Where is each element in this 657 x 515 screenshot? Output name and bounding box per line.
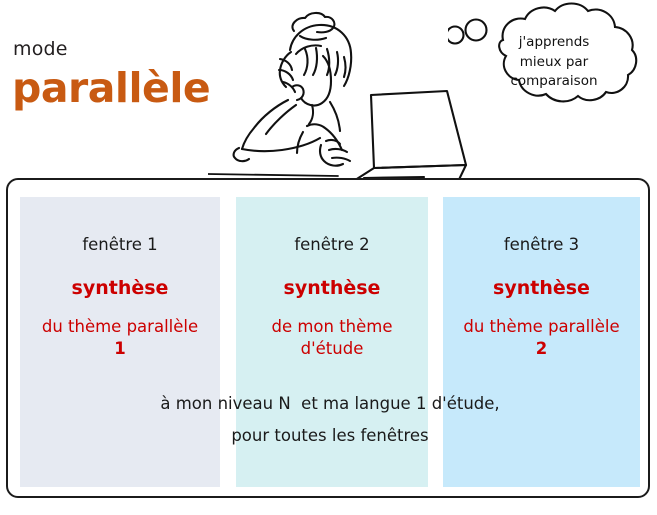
window-label-2: fenêtre 2 xyxy=(236,235,428,255)
synthese-heading-1: synthèse xyxy=(20,277,220,300)
header-zone: mode parallèle xyxy=(0,0,657,178)
synthese-heading-2: synthèse xyxy=(236,277,428,300)
theme-number-1: 1 xyxy=(114,339,125,358)
window-column-2-content: fenêtre 2 synthèse de mon thème d'étude xyxy=(236,197,428,361)
synthese-heading-3: synthèse xyxy=(443,277,640,300)
person-at-laptop-icon xyxy=(208,4,468,178)
window-label-1: fenêtre 1 xyxy=(20,235,220,255)
thought-bubble-line-1: j'apprends xyxy=(470,33,638,53)
theme-description-3: du thème parallèle xyxy=(463,317,619,336)
mode-title: parallèle xyxy=(12,68,210,109)
thought-bubble-text: j'apprends mieux par comparaison xyxy=(470,33,638,92)
thought-bubble-line-3: comparaison xyxy=(470,72,638,92)
theme-text-1: du thème parallèle 1 xyxy=(20,316,220,362)
thought-bubble-line-2: mieux par xyxy=(470,53,638,73)
windows-columns: fenêtre 1 synthèse du thème parallèle 1 … xyxy=(20,197,640,487)
theme-description-1: du thème parallèle xyxy=(42,317,198,336)
theme-number-2: d'étude xyxy=(301,339,364,358)
window-column-2[interactable]: fenêtre 2 synthèse de mon thème d'étude xyxy=(236,197,428,487)
window-label-3: fenêtre 3 xyxy=(443,235,640,255)
window-column-3[interactable]: fenêtre 3 synthèse du thème parallèle 2 xyxy=(443,197,640,487)
mode-label: mode xyxy=(13,38,68,60)
theme-number-3: 2 xyxy=(536,339,547,358)
theme-description-2: de mon thème xyxy=(271,317,392,336)
theme-text-2: de mon thème d'étude xyxy=(236,316,428,362)
window-column-3-content: fenêtre 3 synthèse du thème parallèle 2 xyxy=(443,197,640,361)
window-column-1[interactable]: fenêtre 1 synthèse du thème parallèle 1 xyxy=(20,197,220,487)
theme-text-3: du thème parallèle 2 xyxy=(443,316,640,362)
windows-panel: fenêtre 1 synthèse du thème parallèle 1 … xyxy=(6,178,650,498)
window-column-1-content: fenêtre 1 synthèse du thème parallèle 1 xyxy=(20,197,220,361)
